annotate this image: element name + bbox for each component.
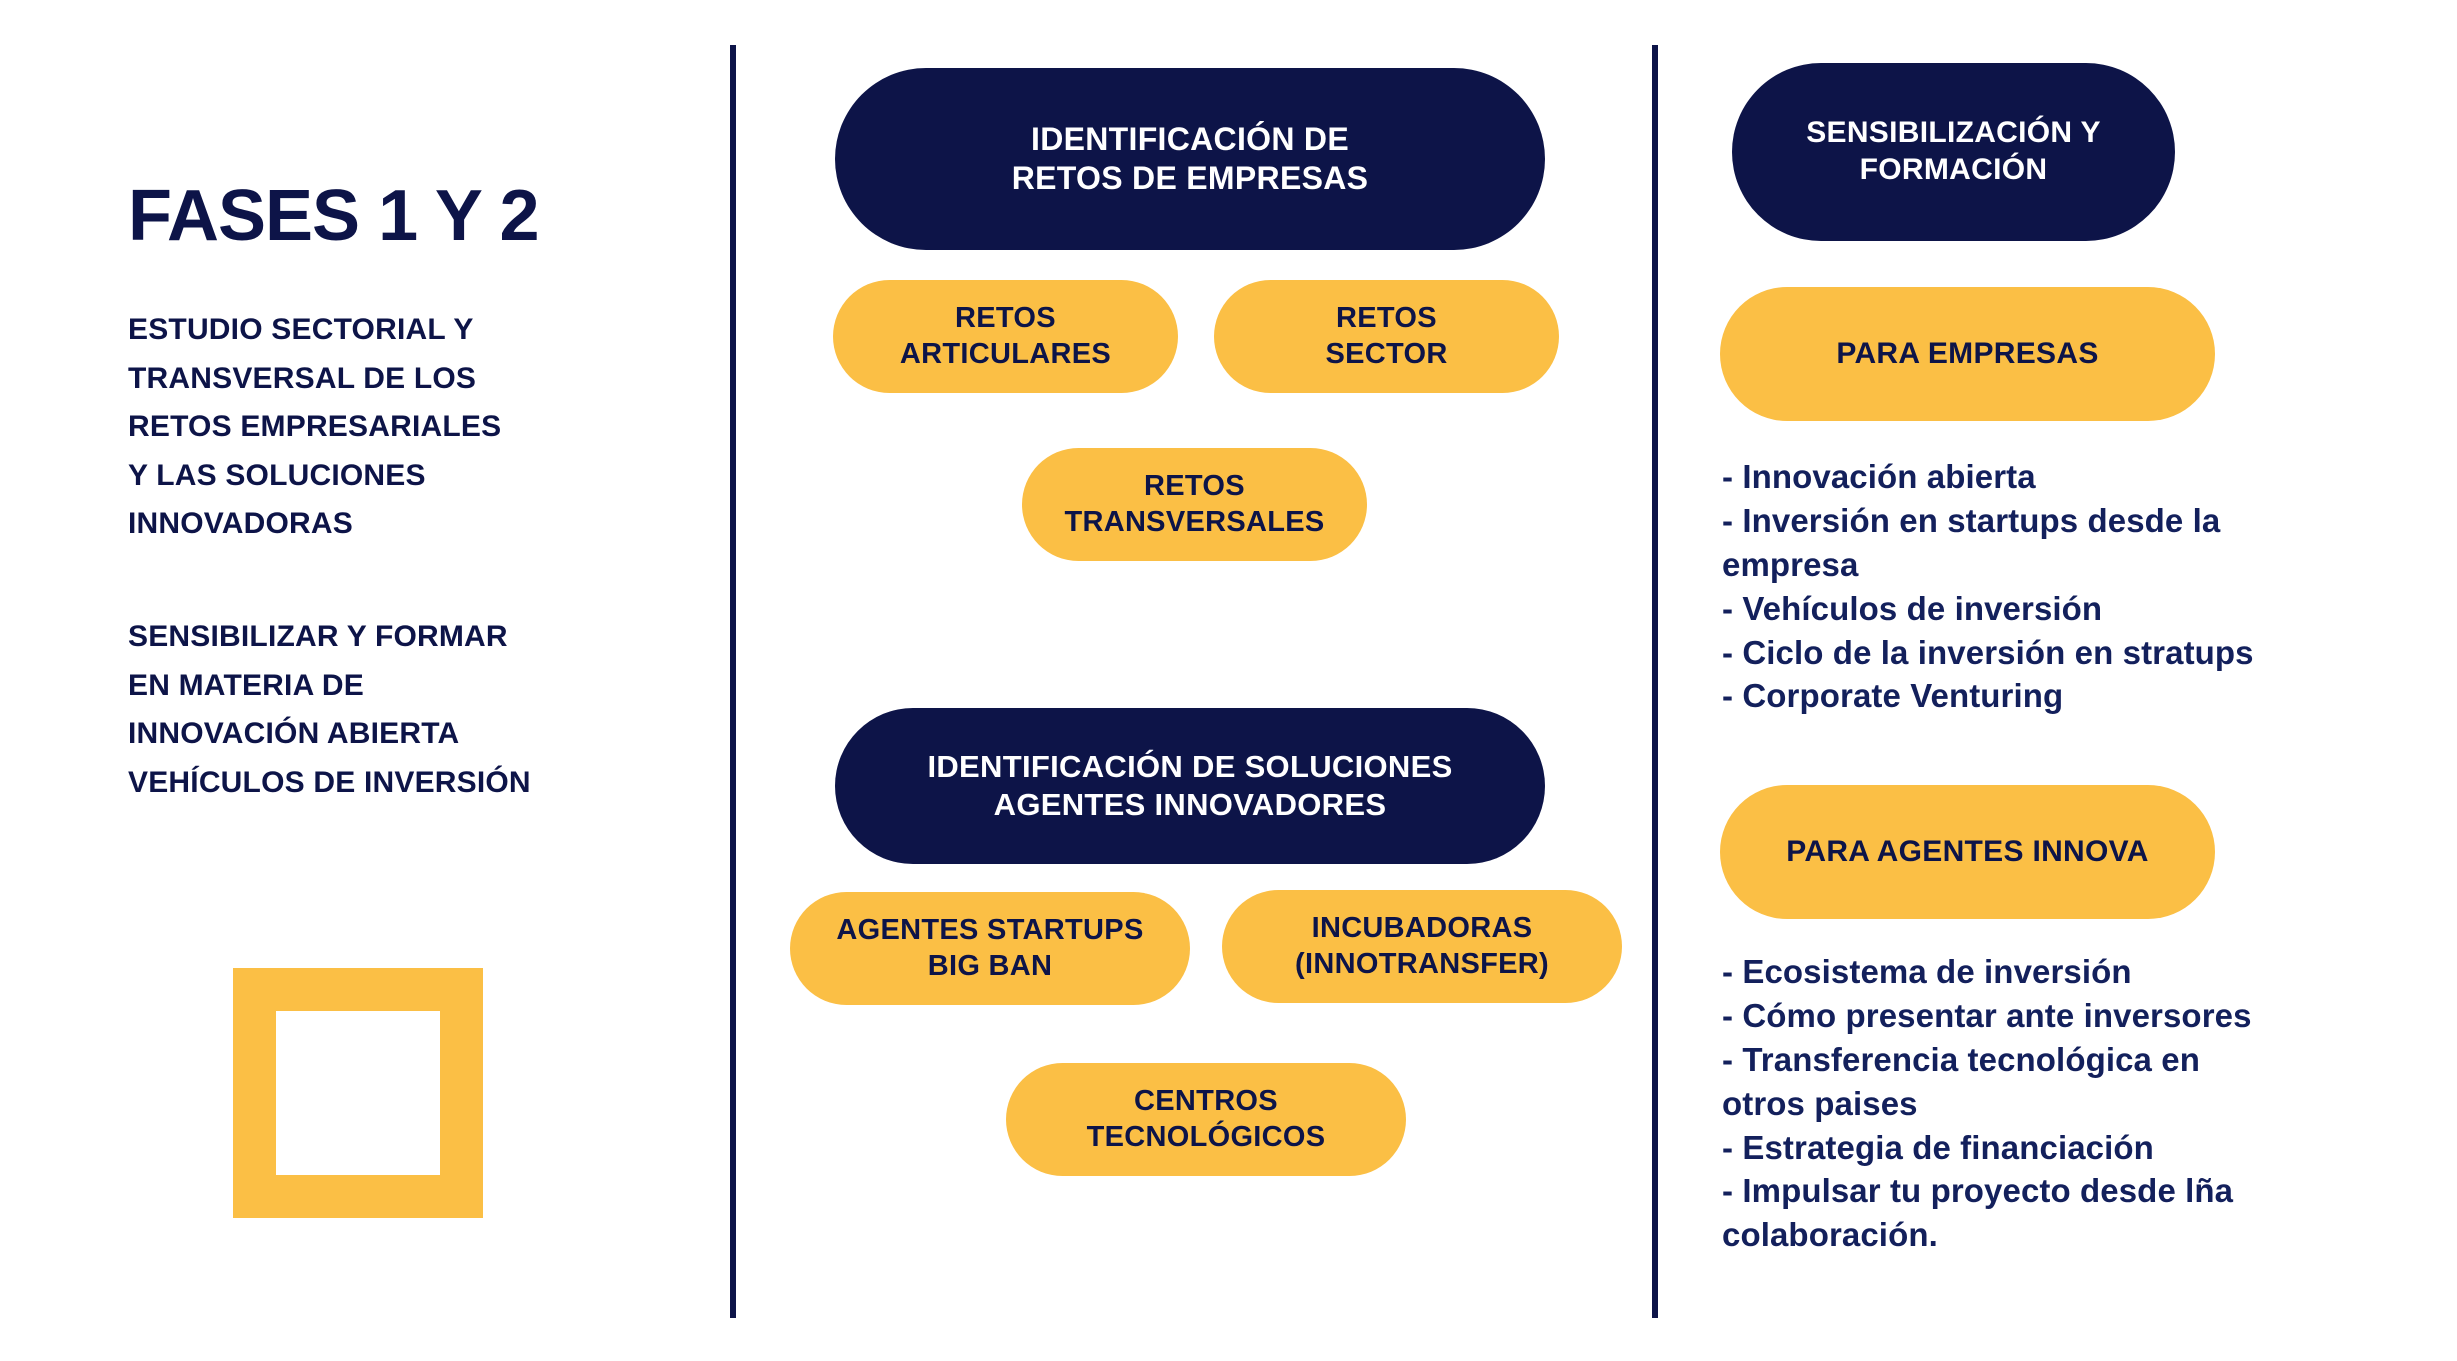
box-title-line: RETOS DE EMPRESAS: [835, 159, 1545, 198]
pill-label-line: TECNOLÓGICOS: [1006, 1120, 1406, 1155]
bullet-line: - Vehículos de inversión: [1722, 587, 2422, 631]
pill-label-line: AGENTES STARTUPS: [790, 913, 1190, 948]
box-sensibilizacion-formacion[interactable]: SENSIBILIZACIÓN Y FORMACIÓN: [1732, 63, 2175, 241]
box-identificacion-soluciones[interactable]: IDENTIFICACIÓN DE SOLUCIONES AGENTES INN…: [835, 708, 1545, 864]
bullet-line: - Impulsar tu proyecto desde lña: [1722, 1169, 2442, 1213]
bullet-line: - Ciclo de la inversión en stratups: [1722, 631, 2422, 675]
bullet-line: empresa: [1722, 543, 2422, 587]
pill-label-line: CENTROS: [1006, 1084, 1406, 1119]
pill-label-line: RETOS: [833, 301, 1178, 336]
pill-label-line: SECTOR: [1214, 337, 1559, 372]
box-title-line: AGENTES INNOVADORES: [835, 786, 1545, 824]
box-identificacion-retos-empresas[interactable]: IDENTIFICACIÓN DE RETOS DE EMPRESAS: [835, 68, 1545, 250]
left-paragraph-line: VEHÍCULOS DE INVERSIÓN: [128, 759, 698, 808]
bullet-list-para-agentes: - Ecosistema de inversión - Cómo present…: [1722, 950, 2442, 1257]
left-paragraph-study: ESTUDIO SECTORIAL Y TRANSVERSAL DE LOS R…: [128, 306, 698, 549]
bullet-line: - Inversión en startups desde la: [1722, 499, 2422, 543]
pill-agentes-startups-big-ban[interactable]: AGENTES STARTUPS BIG BAN: [790, 892, 1190, 1005]
left-paragraph-line: ESTUDIO SECTORIAL Y: [128, 306, 698, 355]
page-title: FASES 1 Y 2: [128, 180, 698, 252]
bullet-list-para-empresas: - Innovación abierta - Inversión en star…: [1722, 455, 2422, 718]
bullet-line: - Transferencia tecnológica en: [1722, 1038, 2442, 1082]
box-title-line: IDENTIFICACIÓN DE SOLUCIONES: [835, 748, 1545, 786]
left-paragraph-line: RETOS EMPRESARIALES: [128, 403, 698, 452]
pill-label-line: ARTICULARES: [833, 337, 1178, 372]
left-paragraph-line: SENSIBILIZAR Y FORMAR: [128, 613, 698, 662]
yellow-square-outline-icon: [233, 968, 483, 1218]
pill-label-line: TRANSVERSALES: [1022, 505, 1367, 540]
left-column: FASES 1 Y 2 ESTUDIO SECTORIAL Y TRANSVER…: [128, 180, 698, 807]
pill-para-agentes-innova[interactable]: PARA AGENTES INNOVA: [1720, 785, 2215, 919]
pill-retos-sector[interactable]: RETOS SECTOR: [1214, 280, 1559, 393]
pill-label-line: (INNOTRANSFER): [1222, 947, 1622, 982]
box-title-line: FORMACIÓN: [1732, 152, 2175, 189]
pill-label-line: INCUBADORAS: [1222, 911, 1622, 946]
bullet-line: - Innovación abierta: [1722, 455, 2422, 499]
left-paragraph-line: TRANSVERSAL DE LOS: [128, 355, 698, 404]
left-paragraph-line: Y LAS SOLUCIONES: [128, 452, 698, 501]
slide-canvas: FASES 1 Y 2 ESTUDIO SECTORIAL Y TRANSVER…: [0, 0, 2457, 1361]
pill-centros-tecnologicos[interactable]: CENTROS TECNOLÓGICOS: [1006, 1063, 1406, 1176]
column-divider-left: [730, 45, 736, 1318]
left-paragraph-line: INNOVACIÓN ABIERTA: [128, 710, 698, 759]
bullet-line: - Ecosistema de inversión: [1722, 950, 2442, 994]
pill-label-line: RETOS: [1214, 301, 1559, 336]
pill-retos-transversales[interactable]: RETOS TRANSVERSALES: [1022, 448, 1367, 561]
box-title-line: IDENTIFICACIÓN DE: [835, 120, 1545, 159]
pill-label-line: PARA EMPRESAS: [1720, 336, 2215, 373]
pill-incubadoras-innotransfer[interactable]: INCUBADORAS (INNOTRANSFER): [1222, 890, 1622, 1003]
bullet-line: - Estrategia de financiación: [1722, 1126, 2442, 1170]
pill-retos-articulares[interactable]: RETOS ARTICULARES: [833, 280, 1178, 393]
pill-label-line: PARA AGENTES INNOVA: [1720, 834, 2215, 871]
pill-para-empresas[interactable]: PARA EMPRESAS: [1720, 287, 2215, 421]
bullet-line: - Cómo presentar ante inversores: [1722, 994, 2442, 1038]
left-paragraph-training: SENSIBILIZAR Y FORMAR EN MATERIA DE INNO…: [128, 613, 698, 807]
box-title-line: SENSIBILIZACIÓN Y: [1732, 115, 2175, 152]
pill-label-line: RETOS: [1022, 469, 1367, 504]
bullet-line: - Corporate Venturing: [1722, 674, 2422, 718]
left-paragraph-line: EN MATERIA DE: [128, 662, 698, 711]
column-divider-right: [1652, 45, 1658, 1318]
left-paragraph-line: INNOVADORAS: [128, 500, 698, 549]
bullet-line: colaboración.: [1722, 1213, 2442, 1257]
pill-label-line: BIG BAN: [790, 949, 1190, 984]
bullet-line: otros paises: [1722, 1082, 2442, 1126]
